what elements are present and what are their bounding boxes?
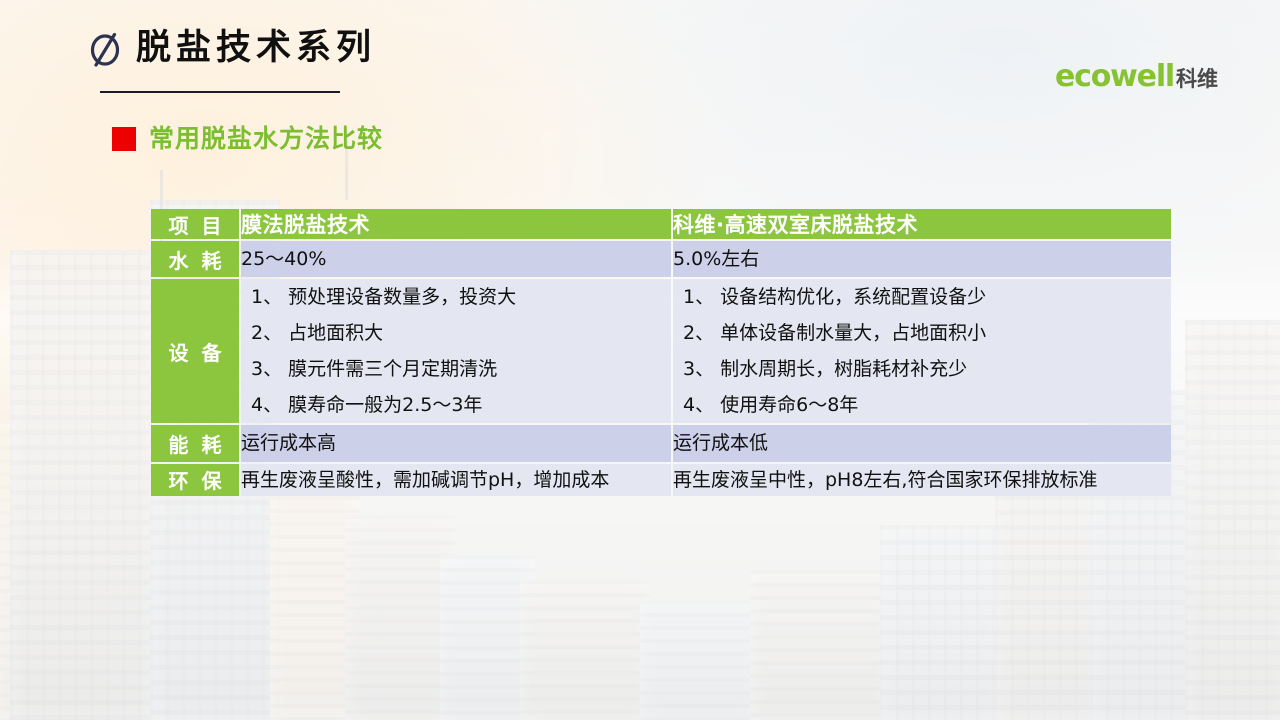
row-equipment-col-b: 1、 设备结构优化，系统配置设备少 2、 单体设备制水量大，占地面积小 3、 制… (673, 279, 1171, 423)
row-label-energy: 能 耗 (151, 425, 239, 461)
row-environment-col-b: 再生废液呈中性，pH8左右,符合国家环保排放标准 (673, 464, 1171, 496)
table-row: 水 耗 25～40% 5.0%左右 (151, 241, 1171, 277)
cell-line: 5.0%左右 (673, 241, 1171, 277)
cell-line: 3、 膜元件需三个月定期清洗 (241, 351, 671, 387)
cell-line: 3、 制水周期长，树脂耗材补充少 (673, 351, 1171, 387)
section-title: 常用脱盐水方法比较 (149, 126, 383, 151)
logo-wordmark: ecowell (1055, 62, 1174, 92)
cell-line: 25～40% (241, 241, 671, 277)
row-equipment-col-a: 1、 预处理设备数量多，投资大 2、 占地面积大 3、 膜元件需三个月定期清洗 … (241, 279, 671, 423)
slashed-circle-icon (88, 28, 122, 68)
row-label-equipment: 设 备 (151, 279, 239, 423)
cell-line: 运行成本高 (241, 425, 671, 461)
cell-line: 4、 膜寿命一般为2.5～3年 (241, 387, 671, 423)
slide: 脱盐技术系列 ecowell 科维 常用脱盐水方法比较 项 目 膜法脱盐技术 科… (0, 0, 1280, 720)
cell-line: 再生废液呈中性，pH8左右,符合国家环保排放标准 (673, 464, 1171, 496)
red-square-bullet-icon (112, 127, 136, 151)
table-row: 环 保 再生废液呈酸性，需加碱调节pH，增加成本 再生废液呈中性，pH8左右,符… (151, 464, 1171, 496)
column-header-b: 科维·高速双室床脱盐技术 (673, 209, 1171, 239)
brand-logo: ecowell 科维 (1055, 62, 1218, 92)
table-row: 能 耗 运行成本高 运行成本低 (151, 425, 1171, 461)
row-energy-col-a: 运行成本高 (241, 425, 671, 461)
row-label-environment: 环 保 (151, 464, 239, 496)
cell-line: 2、 占地面积大 (241, 315, 671, 351)
cell-line: 运行成本低 (673, 425, 1171, 461)
section-heading: 常用脱盐水方法比较 (112, 126, 383, 151)
cell-line: 1、 设备结构优化，系统配置设备少 (673, 279, 1171, 315)
row-energy-col-b: 运行成本低 (673, 425, 1171, 461)
cell-line: 再生废液呈酸性，需加碱调节pH，增加成本 (241, 464, 671, 496)
logo-chinese-name: 科维 (1176, 69, 1218, 90)
row-environment-col-a: 再生废液呈酸性，需加碱调节pH，增加成本 (241, 464, 671, 496)
column-header-label: 项 目 (151, 209, 239, 239)
column-header-a: 膜法脱盐技术 (241, 209, 671, 239)
cell-line: 4、 使用寿命6～8年 (673, 387, 1171, 423)
table-header-row: 项 目 膜法脱盐技术 科维·高速双室床脱盐技术 (151, 209, 1171, 239)
row-label-water: 水 耗 (151, 241, 239, 277)
row-water-col-b: 5.0%左右 (673, 241, 1171, 277)
table-row: 设 备 1、 预处理设备数量多，投资大 2、 占地面积大 3、 膜元件需三个月定… (151, 279, 1171, 423)
cell-line: 2、 单体设备制水量大，占地面积小 (673, 315, 1171, 351)
cell-line: 1、 预处理设备数量多，投资大 (241, 279, 671, 315)
comparison-table: 项 目 膜法脱盐技术 科维·高速双室床脱盐技术 水 耗 25～40% 5.0%左… (149, 207, 1173, 498)
title-underline (100, 91, 340, 93)
row-water-col-a: 25～40% (241, 241, 671, 277)
slide-header: 脱盐技术系列 (88, 28, 376, 68)
page-title: 脱盐技术系列 (136, 31, 376, 66)
